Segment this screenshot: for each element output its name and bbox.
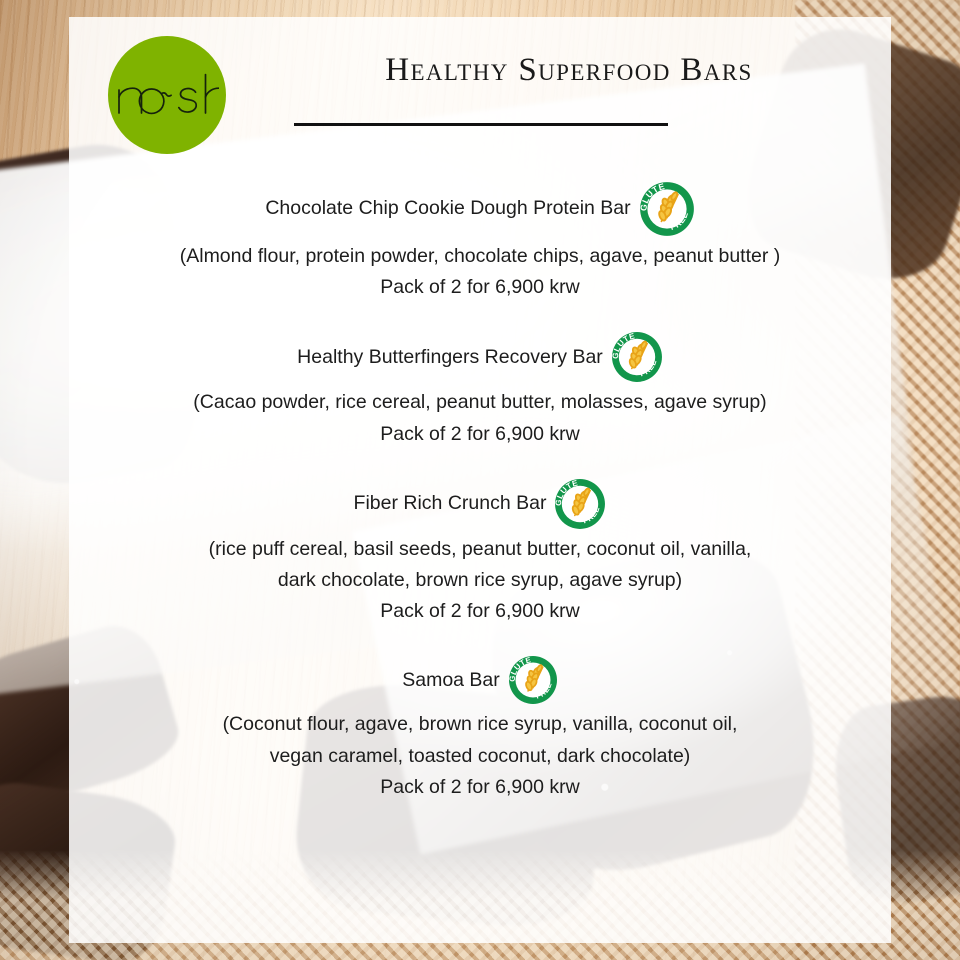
product-ingredients-line-1: (Coconut flour, agave, brown rice syrup,… — [69, 709, 891, 740]
product-price: Pack of 2 for 6,900 krw — [69, 419, 891, 450]
product-name: Fiber Rich Crunch Bar — [354, 494, 547, 514]
product-name-row: Fiber Rich Crunch Bar — [69, 478, 891, 530]
content-card: Healthy Superfood Bars Chocolate Chip Co… — [69, 17, 891, 943]
product-name: Healthy Butterfingers Recovery Bar — [297, 348, 603, 368]
title-divider — [294, 123, 668, 126]
product-name: Samoa Bar — [402, 671, 500, 691]
bitten-o-logo-icon — [115, 73, 219, 117]
header: Healthy Superfood Bars — [69, 17, 891, 167]
page-title: Healthy Superfood Bars — [269, 52, 869, 89]
product-price: Pack of 2 for 6,900 krw — [69, 772, 891, 803]
product-name-row: Samoa Bar — [69, 655, 891, 705]
gluten-free-badge-icon: GLUTEN FREE — [508, 655, 558, 705]
product-name-row: Chocolate Chip Cookie Dough Protein Bar — [69, 181, 891, 237]
product-ingredients: (Almond flour, protein powder, chocolate… — [69, 241, 891, 272]
product-ingredients-line-2: dark chocolate, brown rice syrup, agave … — [69, 565, 891, 596]
product-ingredients-line-2: vegan caramel, toasted coconut, dark cho… — [69, 741, 891, 772]
product-price: Pack of 2 for 6,900 krw — [69, 596, 891, 627]
product-item: Chocolate Chip Cookie Dough Protein Bar — [69, 181, 891, 303]
nosh-logo — [108, 36, 226, 154]
product-item: Samoa Bar — [69, 655, 891, 803]
product-ingredients-line-1: (rice puff cereal, basil seeds, peanut b… — [69, 534, 891, 565]
product-name: Chocolate Chip Cookie Dough Protein Bar — [265, 199, 630, 219]
product-item: Fiber Rich Crunch Bar — [69, 478, 891, 628]
product-list: Chocolate Chip Cookie Dough Protein Bar — [69, 167, 891, 803]
gluten-free-badge-icon: GLUTEN FREE — [554, 478, 606, 530]
gluten-free-badge-icon: GLUTEN FREE — [611, 331, 663, 383]
gluten-free-badge-icon: GLUTEN FREE — [639, 181, 695, 237]
product-name-row: Healthy Butterfingers Recovery Bar — [69, 331, 891, 383]
product-price: Pack of 2 for 6,900 krw — [69, 272, 891, 303]
product-item: Healthy Butterfingers Recovery Bar — [69, 331, 891, 449]
poster-canvas: Healthy Superfood Bars Chocolate Chip Co… — [0, 0, 960, 960]
product-ingredients: (Cacao powder, rice cereal, peanut butte… — [69, 387, 891, 418]
